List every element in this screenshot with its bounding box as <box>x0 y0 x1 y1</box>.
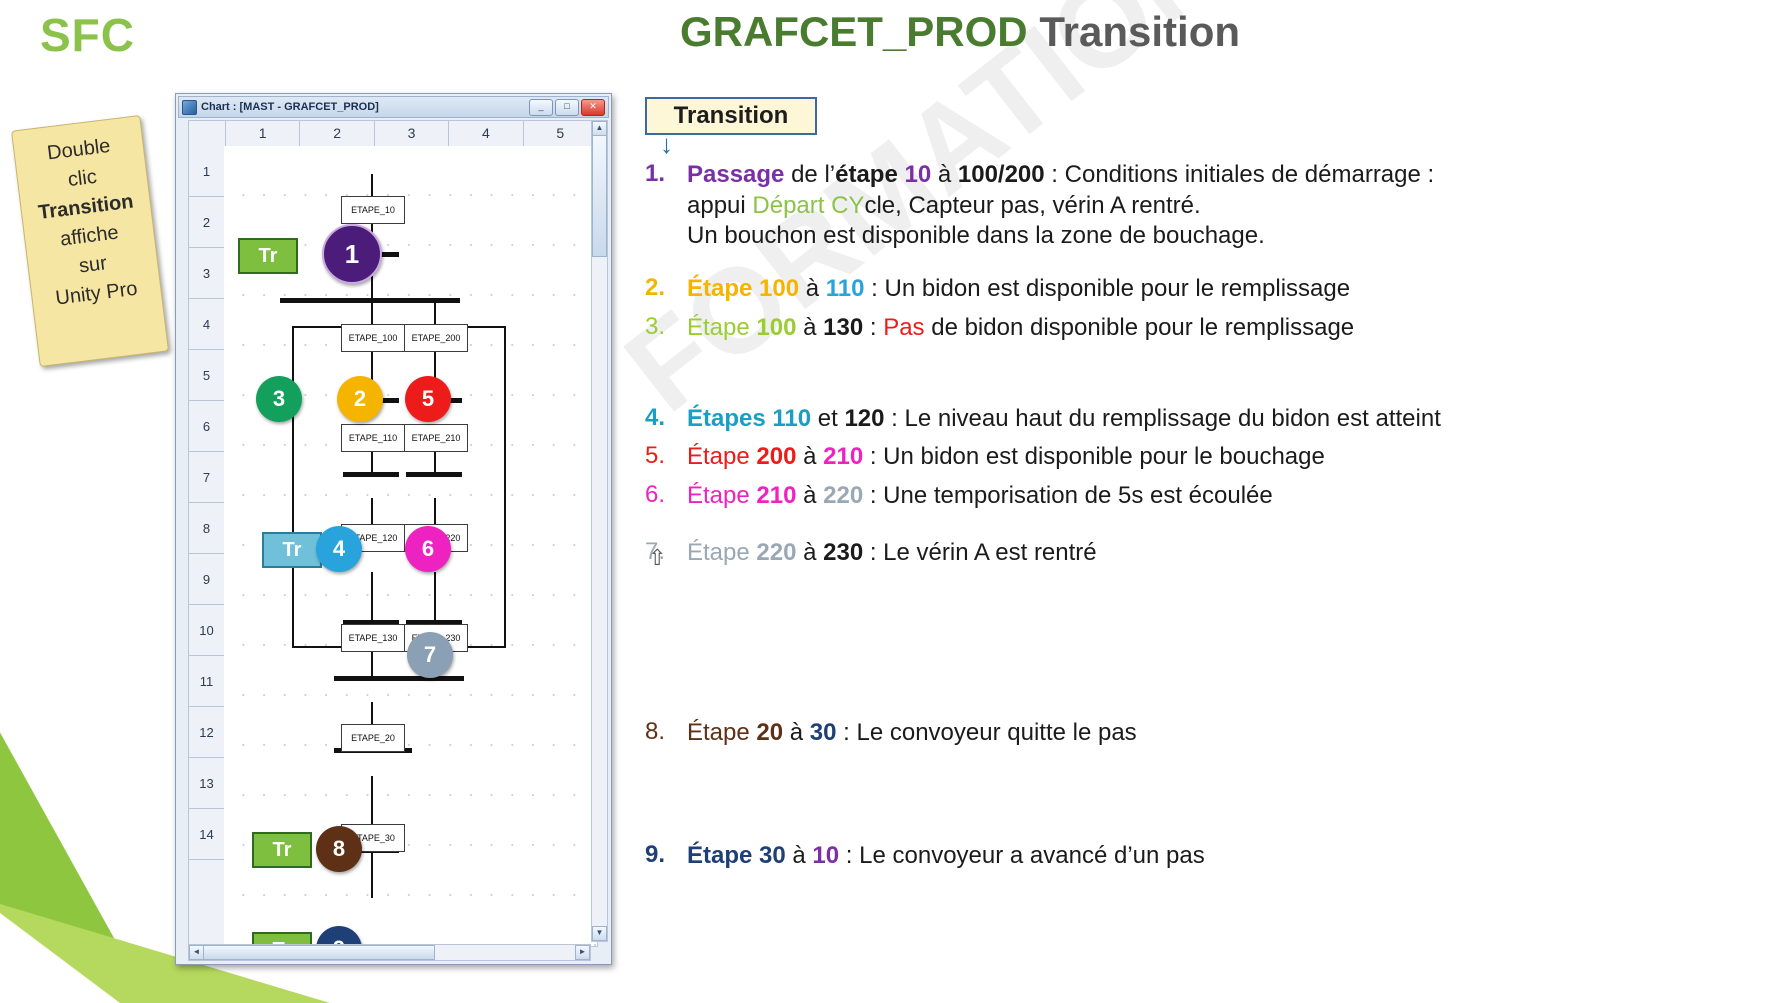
row-header-5: 5 <box>189 350 225 401</box>
chart-window: Chart : [MAST - GRAFCET_PROD] _ □ ✕ 1 2 … <box>175 93 612 965</box>
spacer <box>645 252 1755 274</box>
row-header-6: 6 <box>189 401 225 452</box>
row-header-14: 14 <box>189 809 225 860</box>
txt-a: à <box>796 443 823 470</box>
txt-appui: appui <box>687 192 752 219</box>
list-item-index: 3. <box>645 313 687 344</box>
list-item: 5. Étape 200 à 210 : Un bidon est dispon… <box>645 442 1755 473</box>
column-header-4: 4 <box>449 121 523 147</box>
row-header-10: 10 <box>189 605 225 656</box>
row-header-13: 13 <box>189 758 225 809</box>
tr-label-2[interactable]: Tr <box>262 532 322 568</box>
window-titlebar[interactable]: Chart : [MAST - GRAFCET_PROD] _ □ ✕ <box>178 96 609 118</box>
txt-etape: Étape <box>687 482 756 509</box>
list-item-line2: appui Départ CYcle, Capteur pas, vérin A… <box>687 191 1434 222</box>
scroll-left-icon[interactable]: ◄ <box>189 945 204 960</box>
list-item-line3: Un bouchon est disponible dans la zone d… <box>687 221 1434 252</box>
txt-200: 200 <box>756 443 796 470</box>
list-item-index: 1. <box>645 160 687 252</box>
txt-etapes: Étapes <box>687 405 772 432</box>
list-item-text: Étapes 110 et 120 : Le niveau haut du re… <box>687 404 1441 435</box>
sfc-label: SFC <box>40 8 135 62</box>
txt-120: 120 <box>844 405 884 432</box>
list-item-index: 7. <box>645 538 687 569</box>
row-header-1: 1 <box>189 146 225 197</box>
list-item-index: 8. <box>645 718 687 749</box>
page-title-sub: Transition <box>1039 8 1240 55</box>
txt-100: 100 <box>756 314 796 341</box>
txt-desc: : Le vérin A est rentré <box>863 539 1096 566</box>
txt-etape: Étape <box>687 314 756 341</box>
tr-label-3[interactable]: Tr <box>252 832 312 868</box>
list-item-index: 4. <box>645 404 687 435</box>
marker-2: 2 <box>337 376 383 422</box>
txt-colon: : <box>863 314 883 341</box>
txt-etape: étape <box>835 161 904 188</box>
down-arrow-icon: ↓ <box>660 131 673 157</box>
row-header-11: 11 <box>189 656 225 707</box>
txt-desc: : Un bidon est disponible pour le boucha… <box>863 443 1325 470</box>
txt-10: 10 <box>812 842 839 869</box>
txt-desc: de bidon disponible pour le remplissage <box>925 314 1355 341</box>
txt-a: à <box>796 314 823 341</box>
column-header-5: 5 <box>524 121 598 147</box>
list-item-text: Étape 100 à 130 : Pas de bidon disponibl… <box>687 313 1354 344</box>
txt-etape: Étape <box>687 539 756 566</box>
horizontal-scroll-thumb[interactable] <box>203 945 435 960</box>
list-item-text: Étape 210 à 220 : Une temporisation de 5… <box>687 481 1273 512</box>
step-box-etape-100[interactable]: ETAPE_100 <box>341 324 405 352</box>
ruler-corner <box>189 121 226 147</box>
txt-10: 10 <box>904 161 931 188</box>
link-line <box>371 776 373 826</box>
list-item: 6. Étape 210 à 220 : Une temporisation d… <box>645 481 1755 512</box>
txt-a: à <box>799 275 826 302</box>
marker-8: 8 <box>316 826 362 872</box>
convergence-bar <box>334 676 464 681</box>
link-line <box>371 572 373 620</box>
link-line <box>434 300 436 324</box>
spacer <box>645 512 1755 538</box>
list-item-text: Étape 20 à 30 : Le convoyeur quitte le p… <box>687 718 1137 749</box>
txt-desc: : Une temporisation de 5s est écoulée <box>863 482 1273 509</box>
txt-etape: Étape <box>687 719 756 746</box>
txt-etape: Étape <box>687 275 759 302</box>
marker-6: 6 <box>405 526 451 572</box>
scroll-down-icon[interactable]: ▼ <box>592 926 607 941</box>
step-box-etape-10[interactable]: ETAPE_10 <box>341 196 405 224</box>
txt-220: 220 <box>756 539 796 566</box>
row-header-2: 2 <box>189 197 225 248</box>
txt-20: 20 <box>756 719 783 746</box>
chart-app-icon <box>182 100 197 115</box>
marker-3: 3 <box>256 376 302 422</box>
transition-list: 1. Passage de l’étape 10 à 100/200 : Con… <box>645 160 1755 872</box>
row-header-12: 12 <box>189 707 225 758</box>
txt-210: 210 <box>756 482 796 509</box>
row-header-4: 4 <box>189 299 225 350</box>
txt-depart-cy: Départ CY <box>752 192 864 219</box>
scroll-right-icon[interactable]: ► <box>575 945 590 960</box>
list-item: 3. Étape 100 à 130 : Pas de bidon dispon… <box>645 313 1755 344</box>
txt-a: à <box>783 719 810 746</box>
row-header-8: 8 <box>189 503 225 554</box>
list-item-index: 9. <box>645 841 687 872</box>
txt-100-200: 100/200 <box>958 161 1045 188</box>
divergence-bar <box>280 298 460 303</box>
tr-label-1[interactable]: Tr <box>238 238 298 274</box>
close-button[interactable]: ✕ <box>581 99 605 116</box>
jump-rail-left <box>292 326 294 646</box>
txt-conditions: : Conditions initiales de démarrage : <box>1045 161 1435 188</box>
list-item-text: Étape 30 à 10 : Le convoyeur a avancé d’… <box>687 841 1205 872</box>
minimize-button[interactable]: _ <box>529 99 553 116</box>
sticky-note: Double clic Transition affiche sur Unity… <box>11 115 169 367</box>
spacer <box>645 344 1755 404</box>
txt-220: 220 <box>823 482 863 509</box>
list-item: 1. Passage de l’étape 10 à 100/200 : Con… <box>645 160 1755 252</box>
txt-a: à <box>796 482 823 509</box>
transition-bar-r2[interactable] <box>406 472 462 477</box>
marker-1: 1 <box>322 224 382 284</box>
list-item-text: Étape 220 à 230 : Le vérin A est rentré <box>687 538 1097 569</box>
txt-etape: Étape <box>687 443 756 470</box>
sfc-chart-canvas[interactable]: ETAPE_10 ETAPE_100 ETAPE_200 ETAPE_110 E… <box>224 146 598 947</box>
txt-30: 30 <box>759 842 786 869</box>
step-box-etape-110[interactable]: ETAPE_110 <box>341 424 405 452</box>
marker-7: 7 <box>407 632 453 678</box>
row-header-3: 3 <box>189 248 225 299</box>
maximize-button[interactable]: □ <box>555 99 579 116</box>
list-item: 7. Étape 220 à 230 : Le vérin A est rent… <box>645 538 1755 569</box>
list-item: 4. Étapes 110 et 120 : Le niveau haut du… <box>645 404 1755 435</box>
window-buttons: _ □ ✕ <box>529 99 605 116</box>
txt-230: 230 <box>823 539 863 566</box>
txt-pas: Pas <box>883 314 924 341</box>
vertical-scrollbar[interactable]: ▲ ▼ <box>591 120 608 942</box>
link-line <box>371 850 373 898</box>
scroll-up-icon[interactable]: ▲ <box>592 121 607 136</box>
txt-a: à <box>931 161 958 188</box>
txt-de-l: de l’ <box>784 161 835 188</box>
column-header-2: 2 <box>300 121 374 147</box>
txt-210: 210 <box>823 443 863 470</box>
txt-desc: : Le convoyeur a avancé d’un pas <box>839 842 1205 869</box>
transition-bar-4[interactable] <box>343 472 399 477</box>
txt-desc: : Le niveau haut du remplissage du bidon… <box>885 405 1441 432</box>
column-ruler: 1 2 3 4 5 <box>188 120 599 148</box>
txt-30: 30 <box>810 719 837 746</box>
txt-110: 110 <box>826 275 865 302</box>
jump-rail-right <box>504 326 506 646</box>
step-box-etape-20[interactable]: ETAPE_20 <box>341 724 405 752</box>
txt-110: 110 <box>772 405 811 432</box>
txt-et: et <box>811 405 844 432</box>
horizontal-scrollbar[interactable]: ◄ ► <box>188 944 591 961</box>
step-box-etape-200[interactable]: ETAPE_200 <box>404 324 468 352</box>
row-header-9: 9 <box>189 554 225 605</box>
step-box-etape-210[interactable]: ETAPE_210 <box>404 424 468 452</box>
list-item-index: 6. <box>645 481 687 512</box>
list-item-text: Étape 100 à 110 : Un bidon est disponibl… <box>687 274 1350 305</box>
list-item-text: Passage de l’étape 10 à 100/200 : Condit… <box>687 160 1434 252</box>
row-ruler: 1 2 3 4 5 6 7 8 9 10 11 12 13 14 <box>188 146 225 947</box>
vertical-scroll-thumb[interactable] <box>592 135 607 257</box>
link-line <box>434 572 436 620</box>
txt-a: à <box>786 842 813 869</box>
page-title: GRAFCET_PROD Transition <box>560 8 1360 56</box>
marker-5: 5 <box>405 376 451 422</box>
column-header-3: 3 <box>375 121 449 147</box>
txt-etape: Étape <box>687 842 759 869</box>
sticky-note-text: Double clic Transition affiche sur Unity… <box>14 128 162 316</box>
txt-desc: : Un bidon est disponible pour le rempli… <box>864 275 1350 302</box>
txt-desc: : Le convoyeur quitte le pas <box>836 719 1136 746</box>
row-header-7: 7 <box>189 452 225 503</box>
spacer <box>645 568 1755 718</box>
step-box-etape-130[interactable]: ETAPE_130 <box>341 624 405 652</box>
list-item-text: Étape 200 à 210 : Un bidon est disponibl… <box>687 442 1325 473</box>
window-title: Chart : [MAST - GRAFCET_PROD] <box>201 101 379 113</box>
marker-4: 4 <box>316 526 362 572</box>
list-item-index: 5. <box>645 442 687 473</box>
list-item: 9. Étape 30 à 10 : Le convoyeur a avancé… <box>645 841 1755 872</box>
txt-bouchon: Un bouchon est disponible dans la zone d… <box>687 222 1265 249</box>
txt-130: 130 <box>823 314 863 341</box>
txt-a: à <box>796 539 823 566</box>
spacer <box>645 749 1755 841</box>
txt-cle-capteur: cle, Capteur pas, vérin A rentré. <box>864 192 1200 219</box>
txt-passage: Passage <box>687 161 784 188</box>
column-header-1: 1 <box>226 121 300 147</box>
txt-100: 100 <box>759 275 799 302</box>
page-title-main: GRAFCET_PROD <box>680 8 1028 55</box>
list-item-index: 2. <box>645 274 687 305</box>
list-item: 8. Étape 20 à 30 : Le convoyeur quitte l… <box>645 718 1755 749</box>
list-item: 2. Étape 100 à 110 : Un bidon est dispon… <box>645 274 1755 305</box>
